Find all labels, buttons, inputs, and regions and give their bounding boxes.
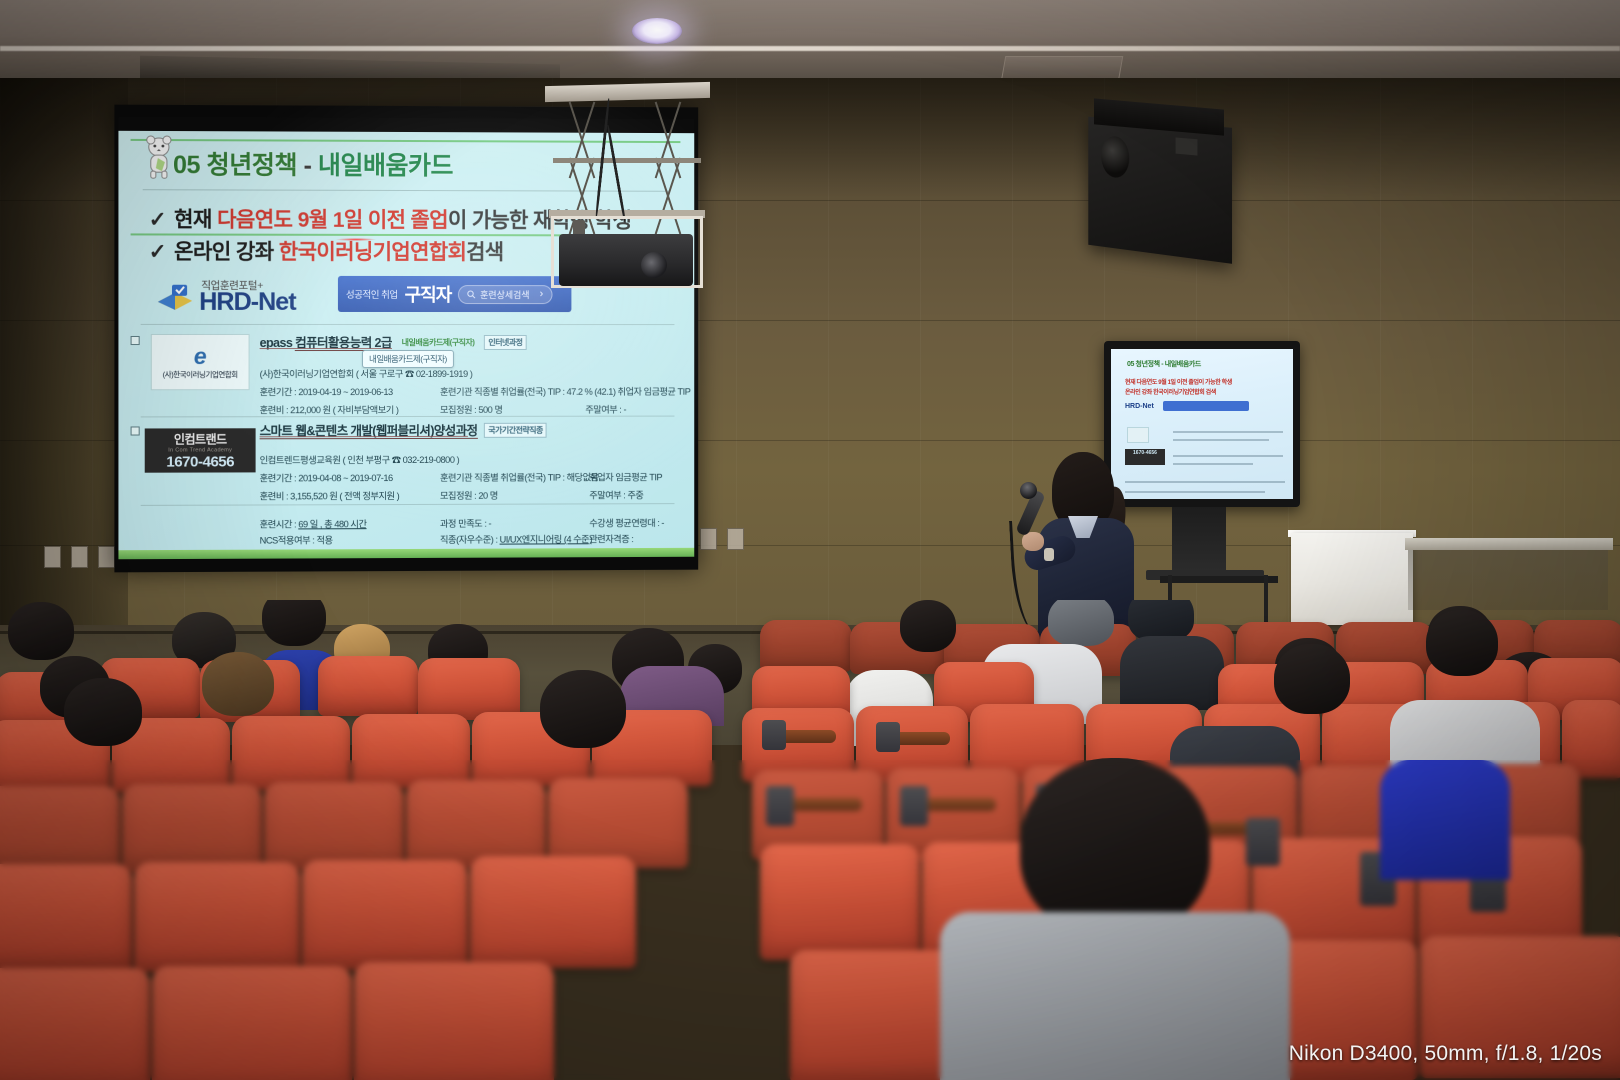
audience-head-foreground	[1020, 758, 1210, 936]
auditorium-seat[interactable]	[548, 778, 688, 868]
auditorium-seat[interactable]	[470, 856, 636, 968]
audience-head	[8, 602, 74, 660]
audience-gray-jacket-foreground	[940, 912, 1290, 1080]
hrd-net-logo-icon	[155, 284, 195, 312]
course-2-meta-8: 과정 만족도 : -	[440, 516, 491, 530]
checkmark-icon: ✓	[149, 240, 166, 263]
auditorium-seat[interactable]	[406, 780, 546, 868]
scissor-lift-arms	[545, 98, 710, 214]
audience-dark-coat	[1120, 636, 1224, 710]
seat-armrest	[786, 798, 862, 811]
laser-pointer-dot	[336, 238, 376, 241]
slide-bottom-band	[118, 548, 694, 559]
course-1-meta-0: 훈련기간 : 2019-04-19 ~ 2019-06-13	[260, 384, 393, 398]
outlet-icon	[44, 546, 61, 568]
slide-bullet-2: ✓온라인 강좌 한국이러닝기업연합회검색	[149, 235, 504, 266]
seat-arm-panel	[900, 786, 928, 826]
audience-head	[64, 678, 142, 746]
course-1-badge-card: 내일배움카드제(구직자)	[399, 336, 478, 349]
course-2-meta-7: NCS적용여부 : 적용	[260, 532, 333, 546]
outlet-icon	[700, 528, 717, 550]
course-2-badge: 국가기간전략직종	[484, 423, 547, 438]
course-1-checkbox[interactable]	[131, 336, 140, 345]
auditorium-seat[interactable]	[352, 714, 470, 788]
row-divider	[141, 416, 675, 418]
pa-speaker	[1088, 117, 1232, 264]
auditorium-photo: 05 청년정책 - 내일배움카드 ✓현재 다음연도 9월 1일 이전 졸업이 가…	[0, 0, 1620, 1080]
auditorium-seat[interactable]	[0, 968, 150, 1080]
e-logo-mark: e	[194, 345, 207, 368]
presenter-watch	[1044, 548, 1054, 561]
auditorium-seat[interactable]	[0, 864, 132, 972]
audience-beanie-gray	[1048, 600, 1114, 646]
course-2-meta-2: 훈련기관 직종별 취업률(전국) TIP : 해당없음	[440, 470, 599, 484]
auditorium-seat[interactable]	[760, 620, 852, 672]
rig-cross-beam	[553, 158, 701, 163]
course-2-meta-3: 모집정원 : 20 명	[440, 488, 498, 502]
slide-title: 05 청년정책 - 내일배움카드	[173, 145, 453, 182]
ceiling-downlight-icon	[632, 18, 682, 44]
course-2-checkbox[interactable]	[131, 426, 140, 435]
search-pill-label: 훈련상세검색	[480, 288, 529, 301]
course-2-meta-6: 훈련시간 : 69 일 , 총 480 시간	[260, 516, 367, 530]
incom-logo-mark: 인컴트랜드	[174, 430, 227, 447]
wall-outlets	[44, 546, 115, 568]
banner-big-label: 구직자	[405, 281, 452, 307]
speaker-badge	[1176, 137, 1198, 155]
slide-title-sub: 내일배움카드	[318, 152, 453, 180]
monitor-banner	[1163, 401, 1249, 411]
row-divider	[141, 324, 675, 325]
bullet-2-pre: 온라인 강좌	[174, 241, 274, 264]
chevron-right-icon: ›	[540, 288, 544, 300]
e-logo-caption: (사)한국이러닝기업연합회	[163, 369, 238, 380]
course-1-underline	[260, 348, 392, 349]
seat-armrest	[920, 798, 996, 811]
course-2-meta-4: 취업자 임금평균 TIP	[589, 469, 662, 483]
course-2-meta-0: 훈련기간 : 2019-04-08 ~ 2019-07-16	[260, 470, 393, 484]
audience-blue-sleeve	[1380, 760, 1510, 880]
auditorium-seat[interactable]	[264, 782, 404, 870]
course-2-meta-10: 수강생 평균연령대 : -	[589, 515, 664, 529]
course-2-logo: 인컴트랜드 In Com Trend Academy 1670-4656	[145, 428, 256, 472]
course-1-meta-2: 훈련기관 직종별 취업률(전국) TIP : 47.2 % (42.1) 취업자…	[440, 384, 690, 398]
course-2-meta-9: 직종(자우수준) : UI/UX엔지니어링 (4 수준)	[440, 531, 592, 546]
monitor-bullet-2: 온라인 강좌 한국이러닝기업연합회 검색	[1125, 387, 1216, 396]
course-2-meta-11: 관련자격증 :	[589, 531, 633, 545]
bullet-2-post: 검색	[466, 241, 503, 264]
auditorium-seat[interactable]	[418, 658, 520, 720]
monitor-hrd-wordmark: HRD-Net	[1125, 403, 1154, 410]
course-1-meta-4: 주말여부 : -	[585, 402, 626, 416]
checkmark-icon: ✓	[149, 208, 166, 231]
auditorium-seat[interactable]	[134, 862, 300, 972]
row-divider	[141, 503, 675, 506]
seat-armrest	[778, 730, 836, 743]
auditorium-seat[interactable]	[122, 784, 262, 872]
magnifier-icon	[467, 290, 476, 299]
ceiling-edge-trim	[0, 46, 1620, 51]
seat-armrest	[892, 732, 950, 745]
auditorium-seat[interactable]	[302, 860, 468, 970]
course-2-meta-1: 훈련비 : 3,155,520 원 ( 전액 정부지원 )	[260, 488, 400, 502]
audience-head	[1274, 644, 1350, 714]
course-2-provider: 인컴트렌드평생교육원 ( 인천 부평구 ☎ 032-219-0800 )	[260, 452, 459, 466]
audience-head	[262, 600, 326, 646]
auditorium-seat[interactable]	[760, 844, 920, 960]
monitor-bullet-1: 현재 다음연도 9월 1일 이전 졸업이 가능한 학생	[1125, 377, 1232, 386]
auditorium-seat[interactable]	[0, 786, 120, 872]
audience-head	[202, 652, 274, 716]
slide-title-main: 청년정책	[207, 151, 298, 179]
auditorium-seat[interactable]	[232, 716, 350, 790]
audience-head	[1426, 610, 1498, 676]
seat-arm-panel	[766, 786, 794, 826]
monitor-course-1-logo	[1127, 427, 1149, 443]
course-2-meta-5: 주말여부 : 주중	[589, 487, 643, 501]
wall-outlets-right	[700, 528, 744, 550]
seat-arm-panel	[762, 720, 786, 750]
training-search-pill[interactable]: 훈련상세검색 ›	[458, 285, 552, 304]
side-table	[1405, 538, 1613, 550]
bullet-2-highlight: 한국이러닝기업연합회	[279, 241, 466, 264]
bullet-1-highlight: 다음연도 9월 1일 이전 졸업	[217, 209, 448, 233]
course-1-provider: (사)한국이러닝기업연합회 ( 서울 구로구 ☎ 02-1899-1919 )	[260, 366, 473, 380]
banner-small-label: 성공적인 취업	[346, 287, 398, 301]
seat-arm-panel	[1246, 818, 1280, 866]
outlet-icon	[727, 528, 744, 550]
monitor-slide-title: 05 청년정책 - 내일배움카드	[1127, 359, 1201, 369]
seat-arm-panel	[876, 722, 900, 752]
auditorium-seat[interactable]	[152, 966, 352, 1080]
speaker-driver-icon	[1101, 135, 1129, 179]
outlet-icon	[98, 546, 115, 568]
course-1-meta-1: 훈련비 : 212,000 원 ( 자비부담액보기 )	[260, 402, 399, 416]
course-1-logo: e (사)한국이러닝기업연합회	[151, 334, 250, 390]
projector-rig	[545, 84, 710, 309]
hrd-jobseeker-banner[interactable]: 성공적인 취업 구직자 훈련상세검색 ›	[338, 276, 571, 312]
course-1-badge-online: 인터넷과정	[484, 335, 526, 350]
course-1-meta-3: 모집정원 : 500 명	[440, 402, 502, 416]
slide-title-dash: -	[304, 152, 312, 180]
outlet-icon	[71, 546, 88, 568]
audience-seating	[0, 600, 1620, 1080]
auditorium-seat[interactable]	[354, 962, 554, 1080]
ceiling-projector	[559, 234, 693, 286]
audience-head	[540, 670, 626, 748]
projector-lens-icon	[641, 252, 667, 278]
hrd-wordmark: HRD-Net	[199, 288, 295, 317]
incom-logo-tel: 1670-4656	[166, 453, 234, 470]
monitor-stand	[1172, 507, 1226, 575]
bullet-1-pre: 현재	[174, 208, 212, 231]
camera-exif-caption: Nikon D3400, 50mm, f/1.8, 1/20s	[1289, 1042, 1602, 1066]
auditorium-seat[interactable]	[318, 656, 418, 716]
slide-title-number: 05	[173, 151, 200, 179]
audience-head	[900, 600, 956, 652]
